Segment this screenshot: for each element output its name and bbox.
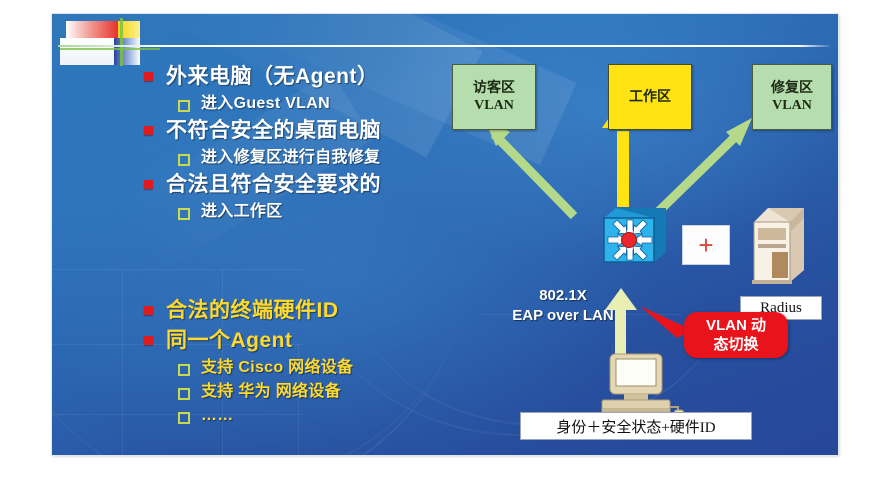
slide-canvas: 外来电脑（无Agent） 进入Guest VLAN 不符合安全的桌面电脑 进入修… <box>52 14 838 455</box>
green-outline-square-bullet-icon <box>178 154 190 166</box>
green-outline-square-bullet-icon <box>178 208 190 220</box>
vlan-box-line1: 工作区 <box>629 89 671 106</box>
bullet-item: …… <box>178 404 353 428</box>
bullet-item: 合法的终端硬件ID <box>144 296 353 326</box>
protocol-line2: EAP over LAN <box>508 306 618 326</box>
bullet-item: 进入工作区 <box>178 200 381 224</box>
green-outline-square-bullet-icon <box>178 388 190 400</box>
vlan-box-guest[interactable]: 访客区 VLAN <box>452 64 536 130</box>
plus-icon: + <box>698 232 713 258</box>
logo-vertical-line <box>120 18 123 66</box>
bullet-item: 同一个Agent <box>144 326 353 356</box>
callout-line2: 态切换 <box>713 335 758 354</box>
vlan-box-line2: VLAN <box>772 97 812 114</box>
protocol-label: 802.1X EAP over LAN <box>508 286 618 326</box>
vlan-switch-callout[interactable]: VLAN 动 态切换 <box>684 312 788 358</box>
bullet-item: 合法且符合安全要求的 <box>144 170 381 200</box>
red-square-bullet-icon <box>144 180 153 189</box>
callout-line1: VLAN 动 <box>706 316 766 335</box>
bullet-text: 支持 华为 网络设备 <box>201 380 341 404</box>
bullet-item: 不符合安全的桌面电脑 <box>144 116 381 146</box>
bullet-text: 外来电脑（无Agent） <box>166 62 379 92</box>
logo-block-red <box>66 21 118 38</box>
bullet-list-bottom: 合法的终端硬件ID 同一个Agent 支持 Cisco 网络设备 支持 华为 网… <box>144 296 353 428</box>
green-outline-square-bullet-icon <box>178 100 190 112</box>
bullet-item: 支持 Cisco 网络设备 <box>178 356 353 380</box>
bottom-caption-text: 身份＋安全状态+硬件ID <box>556 416 715 437</box>
red-square-bullet-icon <box>144 126 153 135</box>
bg-gridline <box>52 269 302 270</box>
vlan-box-line1: 访客区 <box>473 80 515 97</box>
bg-gridline <box>122 269 123 455</box>
protocol-line1: 802.1X <box>508 286 618 306</box>
red-square-bullet-icon <box>144 336 153 345</box>
bullet-text: 同一个Agent <box>166 326 293 356</box>
bullet-text: 不符合安全的桌面电脑 <box>166 116 381 146</box>
green-outline-square-bullet-icon <box>178 364 190 376</box>
bullet-text: 合法且符合安全要求的 <box>166 170 381 200</box>
bullet-item: 外来电脑（无Agent） <box>144 62 381 92</box>
vlan-box-repair[interactable]: 修复区 VLAN <box>752 64 832 130</box>
bullet-text: 进入修复区进行自我修复 <box>201 146 380 170</box>
vlan-box-work[interactable]: 工作区 <box>608 64 692 130</box>
company-logo <box>60 18 160 62</box>
header-divider <box>58 45 830 47</box>
logo-block-white <box>60 38 114 65</box>
bullet-item: 进入Guest VLAN <box>178 92 381 116</box>
arrow-to-repair-vlan <box>656 118 752 214</box>
bullet-text: 合法的终端硬件ID <box>166 296 339 326</box>
bottom-caption: 身份＋安全状态+硬件ID <box>520 412 752 440</box>
bullet-text: …… <box>201 404 234 428</box>
bullet-item: 进入修复区进行自我修复 <box>178 146 381 170</box>
vlan-box-line2: VLAN <box>474 97 514 114</box>
logo-block-blue <box>114 38 140 65</box>
bullet-list-top: 外来电脑（无Agent） 进入Guest VLAN 不符合安全的桌面电脑 进入修… <box>144 62 381 224</box>
arrow-to-guest-vlan <box>484 118 574 216</box>
logo-horizontal-line <box>60 48 160 50</box>
cisco-switch-icon[interactable] <box>596 204 674 270</box>
red-square-bullet-icon <box>144 72 153 81</box>
red-square-bullet-icon <box>144 306 153 315</box>
vlan-box-line1: 修复区 <box>771 80 813 97</box>
green-outline-square-bullet-icon <box>178 412 190 424</box>
bullet-text: 进入工作区 <box>201 200 283 224</box>
plus-sign-box: + <box>682 225 730 265</box>
bullet-item: 支持 华为 网络设备 <box>178 380 353 404</box>
server-tower-icon[interactable] <box>746 204 814 288</box>
bullet-text: 进入Guest VLAN <box>201 92 330 116</box>
bullet-text: 支持 Cisco 网络设备 <box>201 356 353 380</box>
